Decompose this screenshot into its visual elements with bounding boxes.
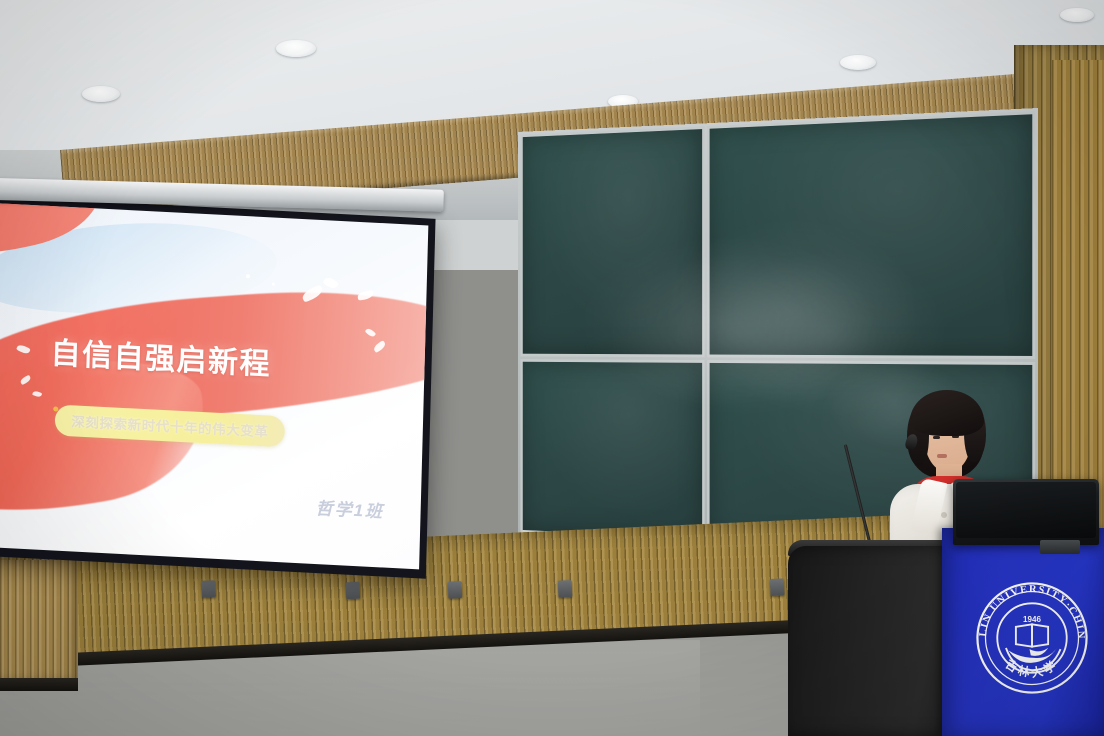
classroom-scene: 自信自强启新程 深刻探索新时代十年的伟大变革 哲学1班: [0, 0, 1104, 736]
svg-text:1946: 1946: [1023, 615, 1041, 624]
slide-petal-decor: [322, 276, 339, 291]
projector-screen[interactable]: 自信自强启新程 深刻探索新时代十年的伟大变革 哲学1班: [0, 196, 436, 579]
monitor-stand: [1040, 540, 1080, 554]
recessed-downlight-icon: [1060, 8, 1094, 22]
blackboard-panel: [523, 362, 702, 539]
podium-monitor[interactable]: [953, 479, 1099, 545]
jilin-university-crest-icon: JILIN UNIVERSITY·CHINA 吉林大学 1946: [970, 576, 1094, 700]
jacket-button: [941, 512, 947, 518]
lectern[interactable]: JILIN UNIVERSITY·CHINA 吉林大学 1946: [788, 528, 1104, 736]
power-outlet: [770, 578, 785, 596]
pillar-baseboard: [0, 678, 78, 691]
blackboard-panel: [523, 129, 702, 355]
lectern-front-panel: JILIN UNIVERSITY·CHINA 吉林大学 1946: [942, 528, 1104, 736]
power-outlet: [448, 581, 463, 599]
mouth: [937, 454, 947, 458]
power-outlet: [201, 580, 216, 598]
recessed-downlight-icon: [82, 86, 120, 102]
svg-text:JILIN UNIVERSITY·CHINA: JILIN UNIVERSITY·CHINA: [970, 576, 1086, 640]
recessed-downlight-icon: [840, 55, 876, 70]
monitor-screen: [956, 482, 1096, 538]
presentation-slide: 自信自强启新程 深刻探索新时代十年的伟大变革 哲学1班: [0, 203, 428, 569]
slide-dot-decor: [272, 283, 275, 286]
power-outlet: [558, 580, 573, 598]
wall-pillar: [0, 560, 78, 680]
hair-fringe: [910, 390, 984, 436]
eye: [933, 436, 940, 439]
slide-subtitle: 深刻探索新时代十年的伟大变革: [71, 410, 269, 440]
blackboard-panel: [709, 114, 1032, 356]
recessed-downlight-icon: [276, 40, 316, 57]
power-outlet: [346, 582, 361, 600]
slide-class-label: 哲学1班: [315, 494, 384, 523]
